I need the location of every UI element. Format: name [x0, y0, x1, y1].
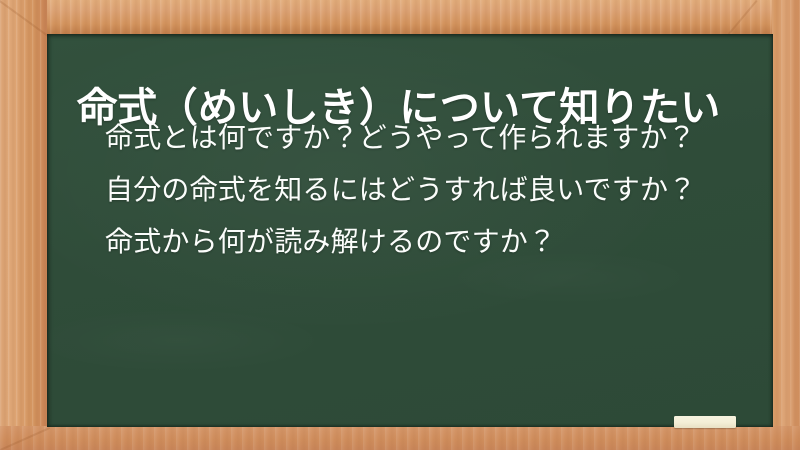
- question-list: 命式とは何ですか？どうやって作られますか？ 自分の命式を知るにはどうすれば良いで…: [105, 112, 696, 268]
- chalk-stick: [674, 416, 736, 428]
- question-item-1: 命式とは何ですか？どうやって作られますか？: [105, 112, 696, 164]
- chalkboard-slide: 命式（めいしき）について知りたい 命式とは何ですか？どうやって作られますか？ 自…: [0, 0, 800, 450]
- wood-frame-bottom: [0, 426, 800, 450]
- wood-frame-right: [772, 0, 800, 450]
- question-item-3: 命式から何が読み解けるのですか？: [105, 216, 696, 268]
- wood-frame-top: [0, 0, 800, 34]
- wood-frame-left: [0, 0, 47, 450]
- question-item-2: 自分の命式を知るにはどうすれば良いですか？: [105, 164, 696, 216]
- chalkboard-surface: 命式（めいしき）について知りたい 命式とは何ですか？どうやって作られますか？ 自…: [47, 34, 773, 427]
